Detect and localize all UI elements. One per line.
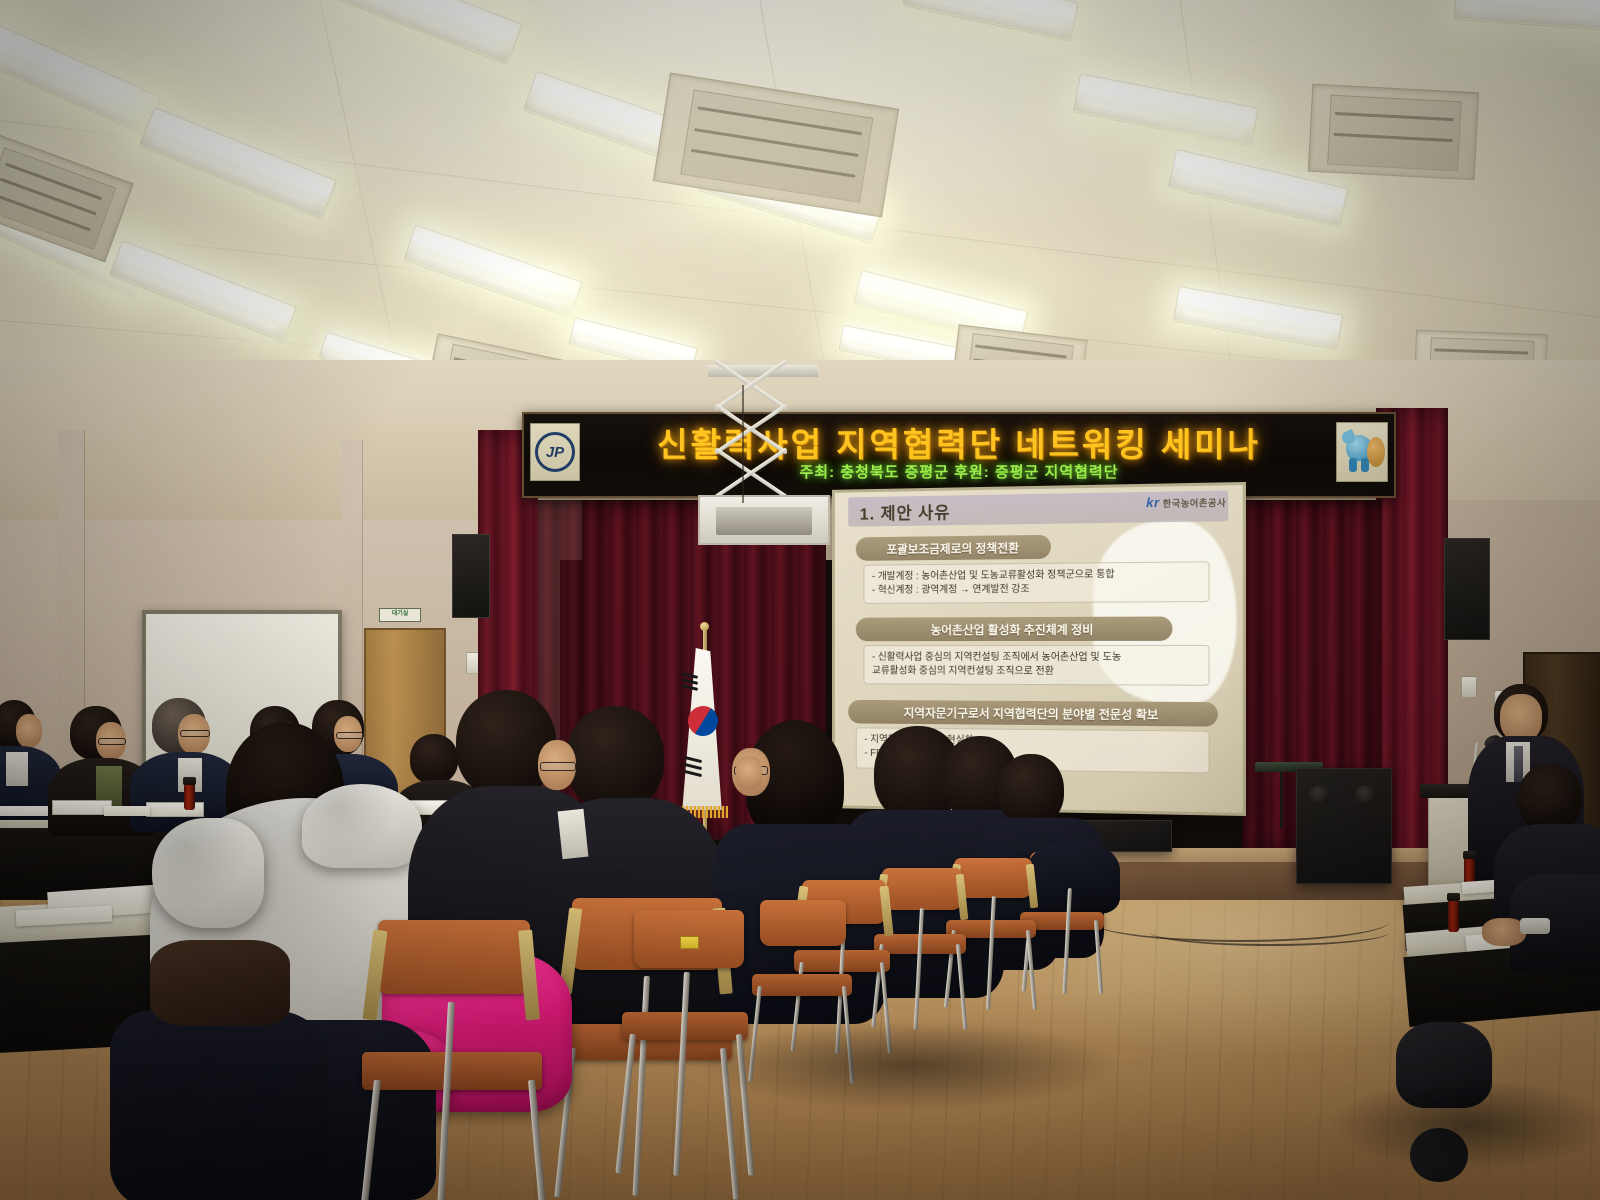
seminar-hall-photo: 대기실 JP 신활력사업 지역협력단 네트워킹 세미나 주최: 충청북도 증평군… bbox=[0, 0, 1600, 1200]
eyeglasses bbox=[540, 762, 576, 771]
banner-mascot-icon bbox=[1336, 422, 1388, 482]
wall-outlet bbox=[1461, 676, 1477, 698]
jacket-sleeve bbox=[152, 818, 264, 928]
slide-bullet: - 혁신계정 : 광역계정 → 연계발전 강조 bbox=[872, 582, 1200, 598]
bag-on-floor bbox=[150, 940, 290, 1026]
wall-mounted-speaker-left bbox=[452, 534, 490, 618]
name-card bbox=[146, 802, 204, 817]
hand bbox=[736, 756, 762, 790]
eyeglasses bbox=[180, 730, 210, 737]
slide-section-heading: 포괄보조금제로의 정책전환 bbox=[856, 535, 1051, 561]
necktie bbox=[1514, 746, 1523, 782]
eyeglasses bbox=[336, 732, 364, 739]
organization-logo: kr 한국농어촌공사 bbox=[1146, 494, 1226, 511]
slide-section-heading: 농어촌산업 활성화 추진체계 정비 bbox=[856, 616, 1173, 641]
asset-tag-sticker bbox=[680, 936, 699, 949]
document-paper bbox=[0, 806, 48, 816]
jacket-hood bbox=[302, 784, 422, 868]
pa-speaker-cabinet bbox=[1296, 768, 1392, 884]
slide-section-body: - 신활력사업 중심의 지역컨설팅 조직에서 농어촌산업 및 도농 교류활성화 … bbox=[863, 645, 1209, 686]
event-banner: JP 신활력사업 지역협력단 네트워킹 세미나 주최: 충청북도 증평군 후원:… bbox=[522, 412, 1396, 498]
waiting-room-sign: 대기실 bbox=[379, 608, 421, 622]
ceiling-ac-cassette bbox=[1308, 84, 1479, 181]
drink-bottle bbox=[1464, 858, 1475, 884]
document-paper bbox=[104, 806, 150, 816]
floor-shadow bbox=[1330, 1080, 1600, 1170]
slide-section-heading: 지역자문기구로서 지역협력단의 분야별 전문성 확보 bbox=[848, 700, 1218, 727]
banner-subtitle-text: 주최: 충청북도 증평군 후원: 증평군 지역협력단 bbox=[524, 461, 1394, 482]
logo-mark-text: kr bbox=[1146, 495, 1160, 510]
projector-unit bbox=[716, 507, 812, 535]
banner-title-text: 신활력사업 지역협력단 네트워킹 세미나 bbox=[524, 418, 1394, 466]
slide-bullet: - 신활력사업 중심의 지역컨설팅 조직에서 농어촌산업 및 도농 bbox=[872, 651, 1200, 666]
logo-org-text: 한국농어촌공사 bbox=[1163, 498, 1226, 509]
drink-bottle bbox=[184, 784, 195, 810]
dark-coat bbox=[110, 1010, 330, 1200]
projector-scissor-lift bbox=[690, 365, 840, 545]
speaker-driver bbox=[1309, 785, 1331, 805]
wall-mounted-speaker-right bbox=[1444, 538, 1490, 640]
shirt-cuff bbox=[1520, 918, 1550, 934]
projector-housing bbox=[698, 495, 830, 545]
draped-coat bbox=[1026, 842, 1120, 914]
eyeglasses bbox=[98, 738, 126, 745]
drink-bottle bbox=[1448, 900, 1459, 932]
keyboard-stand-leg bbox=[1280, 772, 1283, 828]
speaker-driver bbox=[1355, 785, 1377, 805]
floor-cable bbox=[1150, 918, 1390, 946]
slide-bullet: 교류활성화 중심의 지역컨설팅 조직으로 전환 bbox=[872, 665, 1200, 680]
name-card bbox=[52, 800, 112, 815]
floor-shadow bbox=[700, 1020, 1120, 1110]
slide-title-text: 1. 제안 사유 bbox=[860, 498, 951, 524]
slide-section-body: - 개발계정 : 농어촌산업 및 도농교류활성화 정책군으로 통합 - 혁신계정… bbox=[863, 561, 1209, 604]
